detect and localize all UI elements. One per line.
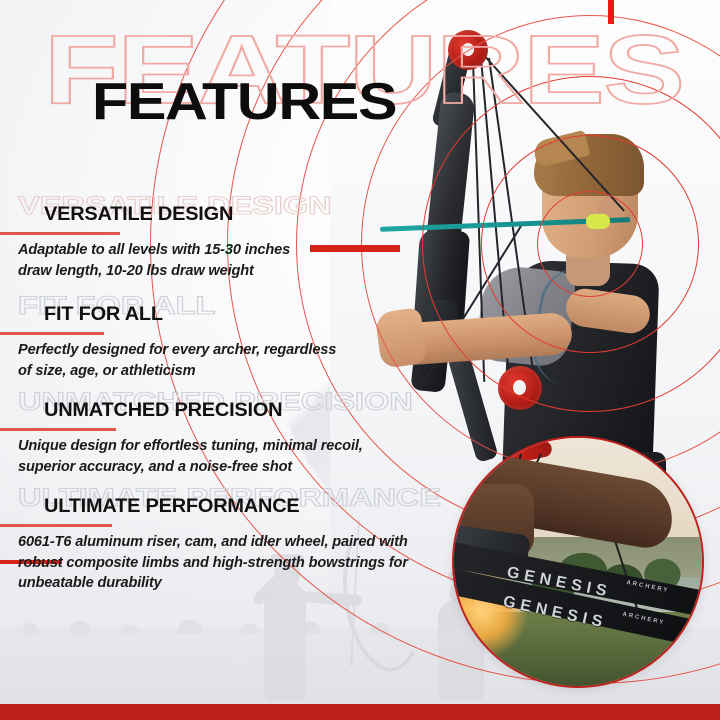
feature-underline xyxy=(0,428,116,431)
feature-description: 6061-T6 aluminum riser, cam, and idler w… xyxy=(18,532,414,594)
crosshair-tick-middle xyxy=(310,245,400,252)
feature-title: UNMATCHED PRECISION xyxy=(44,400,282,422)
page-title: FEATURES xyxy=(92,72,396,132)
feature-title: ULTIMATE PERFORMANCE xyxy=(44,496,300,518)
feature-underline xyxy=(0,232,120,235)
feature-title: FIT FOR ALL xyxy=(44,304,163,326)
feature-description: Unique design for effortless tuning, min… xyxy=(18,436,374,477)
feature-description: Adaptable to all levels with 15-30 inche… xyxy=(18,240,318,281)
infographic-canvas: FEATURES FEATURES VERSATILE DESIGN VERSA… xyxy=(0,0,720,720)
feature-underline xyxy=(0,524,112,527)
feature-description: Perfectly designed for every archer, reg… xyxy=(18,340,338,381)
inset-photo-bow-closeup: GENESIS ARCHERY GENESIS ARCHERY xyxy=(452,436,704,688)
feature-title: VERSATILE DESIGN xyxy=(44,204,233,226)
feature-underline xyxy=(0,332,104,335)
bottom-accent-bar xyxy=(0,704,720,720)
